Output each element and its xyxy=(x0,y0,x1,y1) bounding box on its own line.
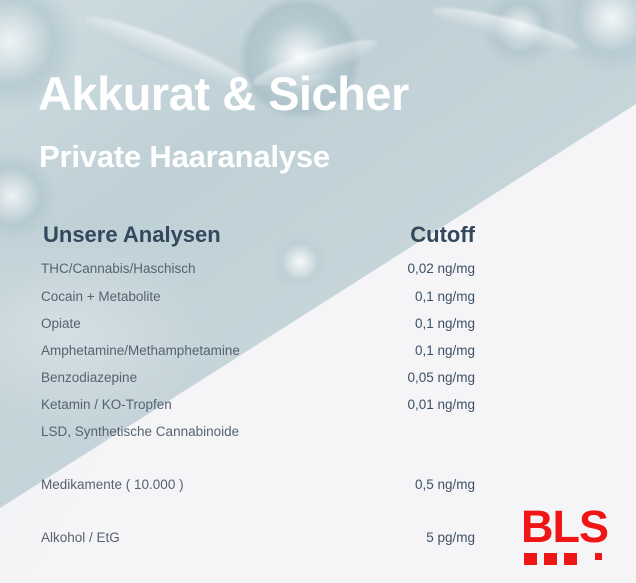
bls-wordmark: BLS xyxy=(521,505,617,549)
table-row: Cocain + Metabolite 0,1 ng/mg xyxy=(0,286,636,308)
column-header-analyses: Unsere Analysen xyxy=(43,224,221,246)
row-cutoff-value: 5 pg/mg xyxy=(279,527,475,549)
row-label: Ketamin / KO-Tropfen xyxy=(41,394,172,416)
poster-content: Akkurat & Sicher Private Haaranalyse Uns… xyxy=(0,0,636,583)
row-cutoff-value: 0,1 ng/mg xyxy=(279,286,475,308)
row-label: Alkohol / EtG xyxy=(41,527,120,549)
table-row: Opiate 0,1 ng/mg xyxy=(0,313,636,335)
table-row: Ketamin / KO-Tropfen 0,01 ng/mg xyxy=(0,394,636,416)
logo-square-3 xyxy=(564,553,577,565)
poster-canvas: Akkurat & Sicher Private Haaranalyse Uns… xyxy=(0,0,636,583)
logo-square-4 xyxy=(595,553,602,560)
row-cutoff-value: 0,1 ng/mg xyxy=(279,340,475,362)
table-row: THC/Cannabis/Haschisch 0,02 ng/mg xyxy=(0,258,636,280)
logo-square-1 xyxy=(524,553,537,565)
row-cutoff-value: 0,02 ng/mg xyxy=(279,258,475,280)
bls-logo-squares-icon xyxy=(524,553,618,565)
row-label: Opiate xyxy=(41,313,81,335)
table-row: Amphetamine/Methamphetamine 0,1 ng/mg xyxy=(0,340,636,362)
row-label: Cocain + Metabolite xyxy=(41,286,161,308)
table-row: Benzodiazepine 0,05 ng/mg xyxy=(0,367,636,389)
row-label: Amphetamine/Methamphetamine xyxy=(41,340,240,362)
row-label: Benzodiazepine xyxy=(41,367,137,389)
row-cutoff-value: 0,1 ng/mg xyxy=(279,313,475,335)
row-label: THC/Cannabis/Haschisch xyxy=(41,258,196,280)
row-label: Medikamente ( 10.000 ) xyxy=(41,474,184,496)
row-cutoff-value: 0,5 ng/mg xyxy=(279,474,475,496)
row-cutoff-value: 0,01 ng/mg xyxy=(279,394,475,416)
page-title: Akkurat & Sicher xyxy=(38,70,409,117)
bls-logo: BLS xyxy=(521,505,617,567)
logo-square-2 xyxy=(544,553,557,565)
table-row: LSD, Synthetische Cannabinoide xyxy=(0,421,636,443)
column-header-cutoff: Cutoff xyxy=(279,224,475,246)
page-subtitle: Private Haaranalyse xyxy=(39,141,330,172)
row-cutoff-value: 0,05 ng/mg xyxy=(279,367,475,389)
row-label: LSD, Synthetische Cannabinoide xyxy=(41,421,239,443)
table-row: Medikamente ( 10.000 ) 0,5 ng/mg xyxy=(0,474,636,496)
